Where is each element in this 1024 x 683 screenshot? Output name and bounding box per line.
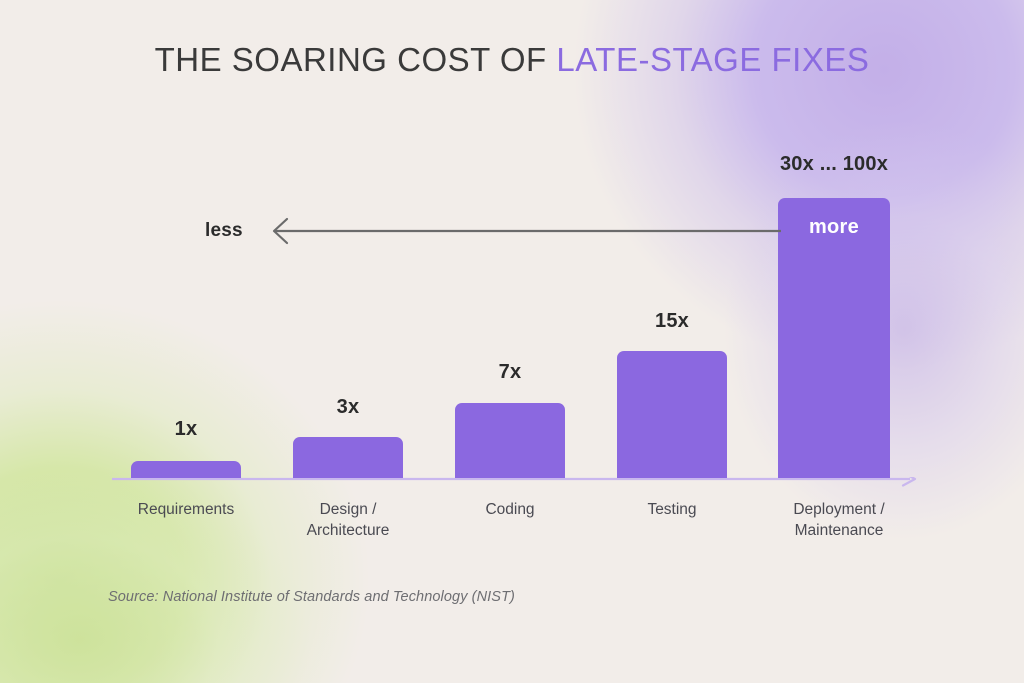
- plot-area: more 1x 3x 7x 15x 30x ... 100x Requireme…: [0, 0, 1024, 683]
- value-label-testing: 15x: [617, 310, 727, 333]
- category-label-coding: Coding: [430, 499, 590, 520]
- category-label-requirements-line1: Requirements: [106, 499, 266, 520]
- trend-label-less: less: [205, 220, 243, 242]
- value-label-design-architecture: 3x: [293, 396, 403, 419]
- category-label-testing-line1: Testing: [592, 499, 752, 520]
- bar-design-architecture: [293, 437, 403, 478]
- trend-arrow-left-icon: [261, 214, 781, 250]
- category-label-design-architecture: Design / Architecture: [268, 499, 428, 541]
- value-label-deployment-maintenance: 30x ... 100x: [744, 153, 924, 176]
- chart-canvas: THE SOARING COST OF LATE-STAGE FIXES mor…: [0, 0, 1024, 683]
- bar-deployment-maintenance: more: [778, 198, 890, 478]
- bar-requirements: [131, 461, 241, 478]
- trend-annotation: less: [205, 214, 785, 250]
- category-label-coding-line1: Coding: [430, 499, 590, 520]
- category-label-deployment-maintenance-line2: Maintenance: [754, 520, 924, 541]
- category-label-design-architecture-line2: Architecture: [268, 520, 428, 541]
- bar-coding: [455, 403, 565, 478]
- category-label-testing: Testing: [592, 499, 752, 520]
- source-attribution: Source: National Institute of Standards …: [108, 589, 515, 605]
- category-label-deployment-maintenance: Deployment / Maintenance: [754, 499, 924, 541]
- bar-inline-label-more: more: [778, 216, 890, 239]
- value-label-coding: 7x: [455, 361, 565, 384]
- category-label-design-architecture-line1: Design /: [268, 499, 428, 520]
- value-label-requirements: 1x: [131, 418, 241, 441]
- category-label-deployment-maintenance-line1: Deployment /: [754, 499, 924, 520]
- x-axis-line: [112, 477, 924, 489]
- category-label-requirements: Requirements: [106, 499, 266, 520]
- bar-testing: [617, 351, 727, 478]
